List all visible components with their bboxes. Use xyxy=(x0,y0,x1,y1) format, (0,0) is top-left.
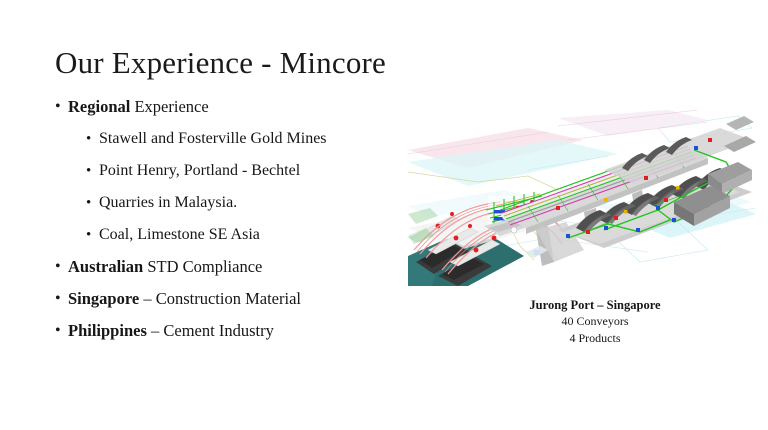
list-item-rest: STD Compliance xyxy=(143,257,262,276)
bullet-marker: • xyxy=(55,320,68,342)
list-item-lead: Australian xyxy=(68,257,143,276)
slide-canvas: Our Experience - Mincore • Regional Expe… xyxy=(0,0,768,430)
list-item-text: Point Henry, Portland - Bechtel xyxy=(99,160,300,182)
bullet-marker: • xyxy=(55,96,68,118)
caption-line: 40 Conveyors xyxy=(470,313,720,330)
bullet-marker: • xyxy=(55,288,68,310)
list-item-rest: – Cement Industry xyxy=(147,321,274,340)
list-item: • Australian STD Compliance xyxy=(55,256,415,278)
list-item-text: Coal, Limestone SE Asia xyxy=(99,224,260,246)
bullet-marker: • xyxy=(86,192,99,214)
list-item-lead: Philippines xyxy=(68,321,147,340)
caption-line: 4 Products xyxy=(470,330,720,347)
list-item-text: Stawell and Fosterville Gold Mines xyxy=(99,128,327,150)
bullet-marker: • xyxy=(55,256,68,278)
caption-title: Jurong Port – Singapore xyxy=(470,297,720,313)
list-item: • Singapore – Construction Material xyxy=(55,288,415,310)
list-item-rest: Experience xyxy=(130,97,208,116)
list-item-text: Philippines – Cement Industry xyxy=(68,320,274,342)
list-item-rest: – Construction Material xyxy=(139,289,301,308)
list-item: • Philippines – Cement Industry xyxy=(55,320,415,342)
bullet-list: • Regional Experience • Stawell and Fost… xyxy=(55,96,415,352)
list-item: • Stawell and Fosterville Gold Mines xyxy=(55,128,415,150)
list-item: • Coal, Limestone SE Asia xyxy=(55,224,415,246)
list-item-lead: Regional xyxy=(68,97,130,116)
jurong-port-3d-layout-image xyxy=(408,110,756,286)
list-item: • Quarries in Malaysia. xyxy=(55,192,415,214)
list-item-text: Quarries in Malaysia. xyxy=(99,192,237,214)
list-item: • Point Henry, Portland - Bechtel xyxy=(55,160,415,182)
page-title: Our Experience - Mincore xyxy=(55,44,386,82)
bullet-marker: • xyxy=(86,224,99,246)
bullet-marker: • xyxy=(86,160,99,182)
list-item: • Regional Experience xyxy=(55,96,415,118)
bullet-marker: • xyxy=(86,128,99,150)
figure-caption: Jurong Port – Singapore 40 Conveyors 4 P… xyxy=(470,297,720,347)
list-item-text: Regional Experience xyxy=(68,96,209,118)
list-item-text: Australian STD Compliance xyxy=(68,256,262,278)
list-item-lead: Singapore xyxy=(68,289,139,308)
list-item-text: Singapore – Construction Material xyxy=(68,288,301,310)
